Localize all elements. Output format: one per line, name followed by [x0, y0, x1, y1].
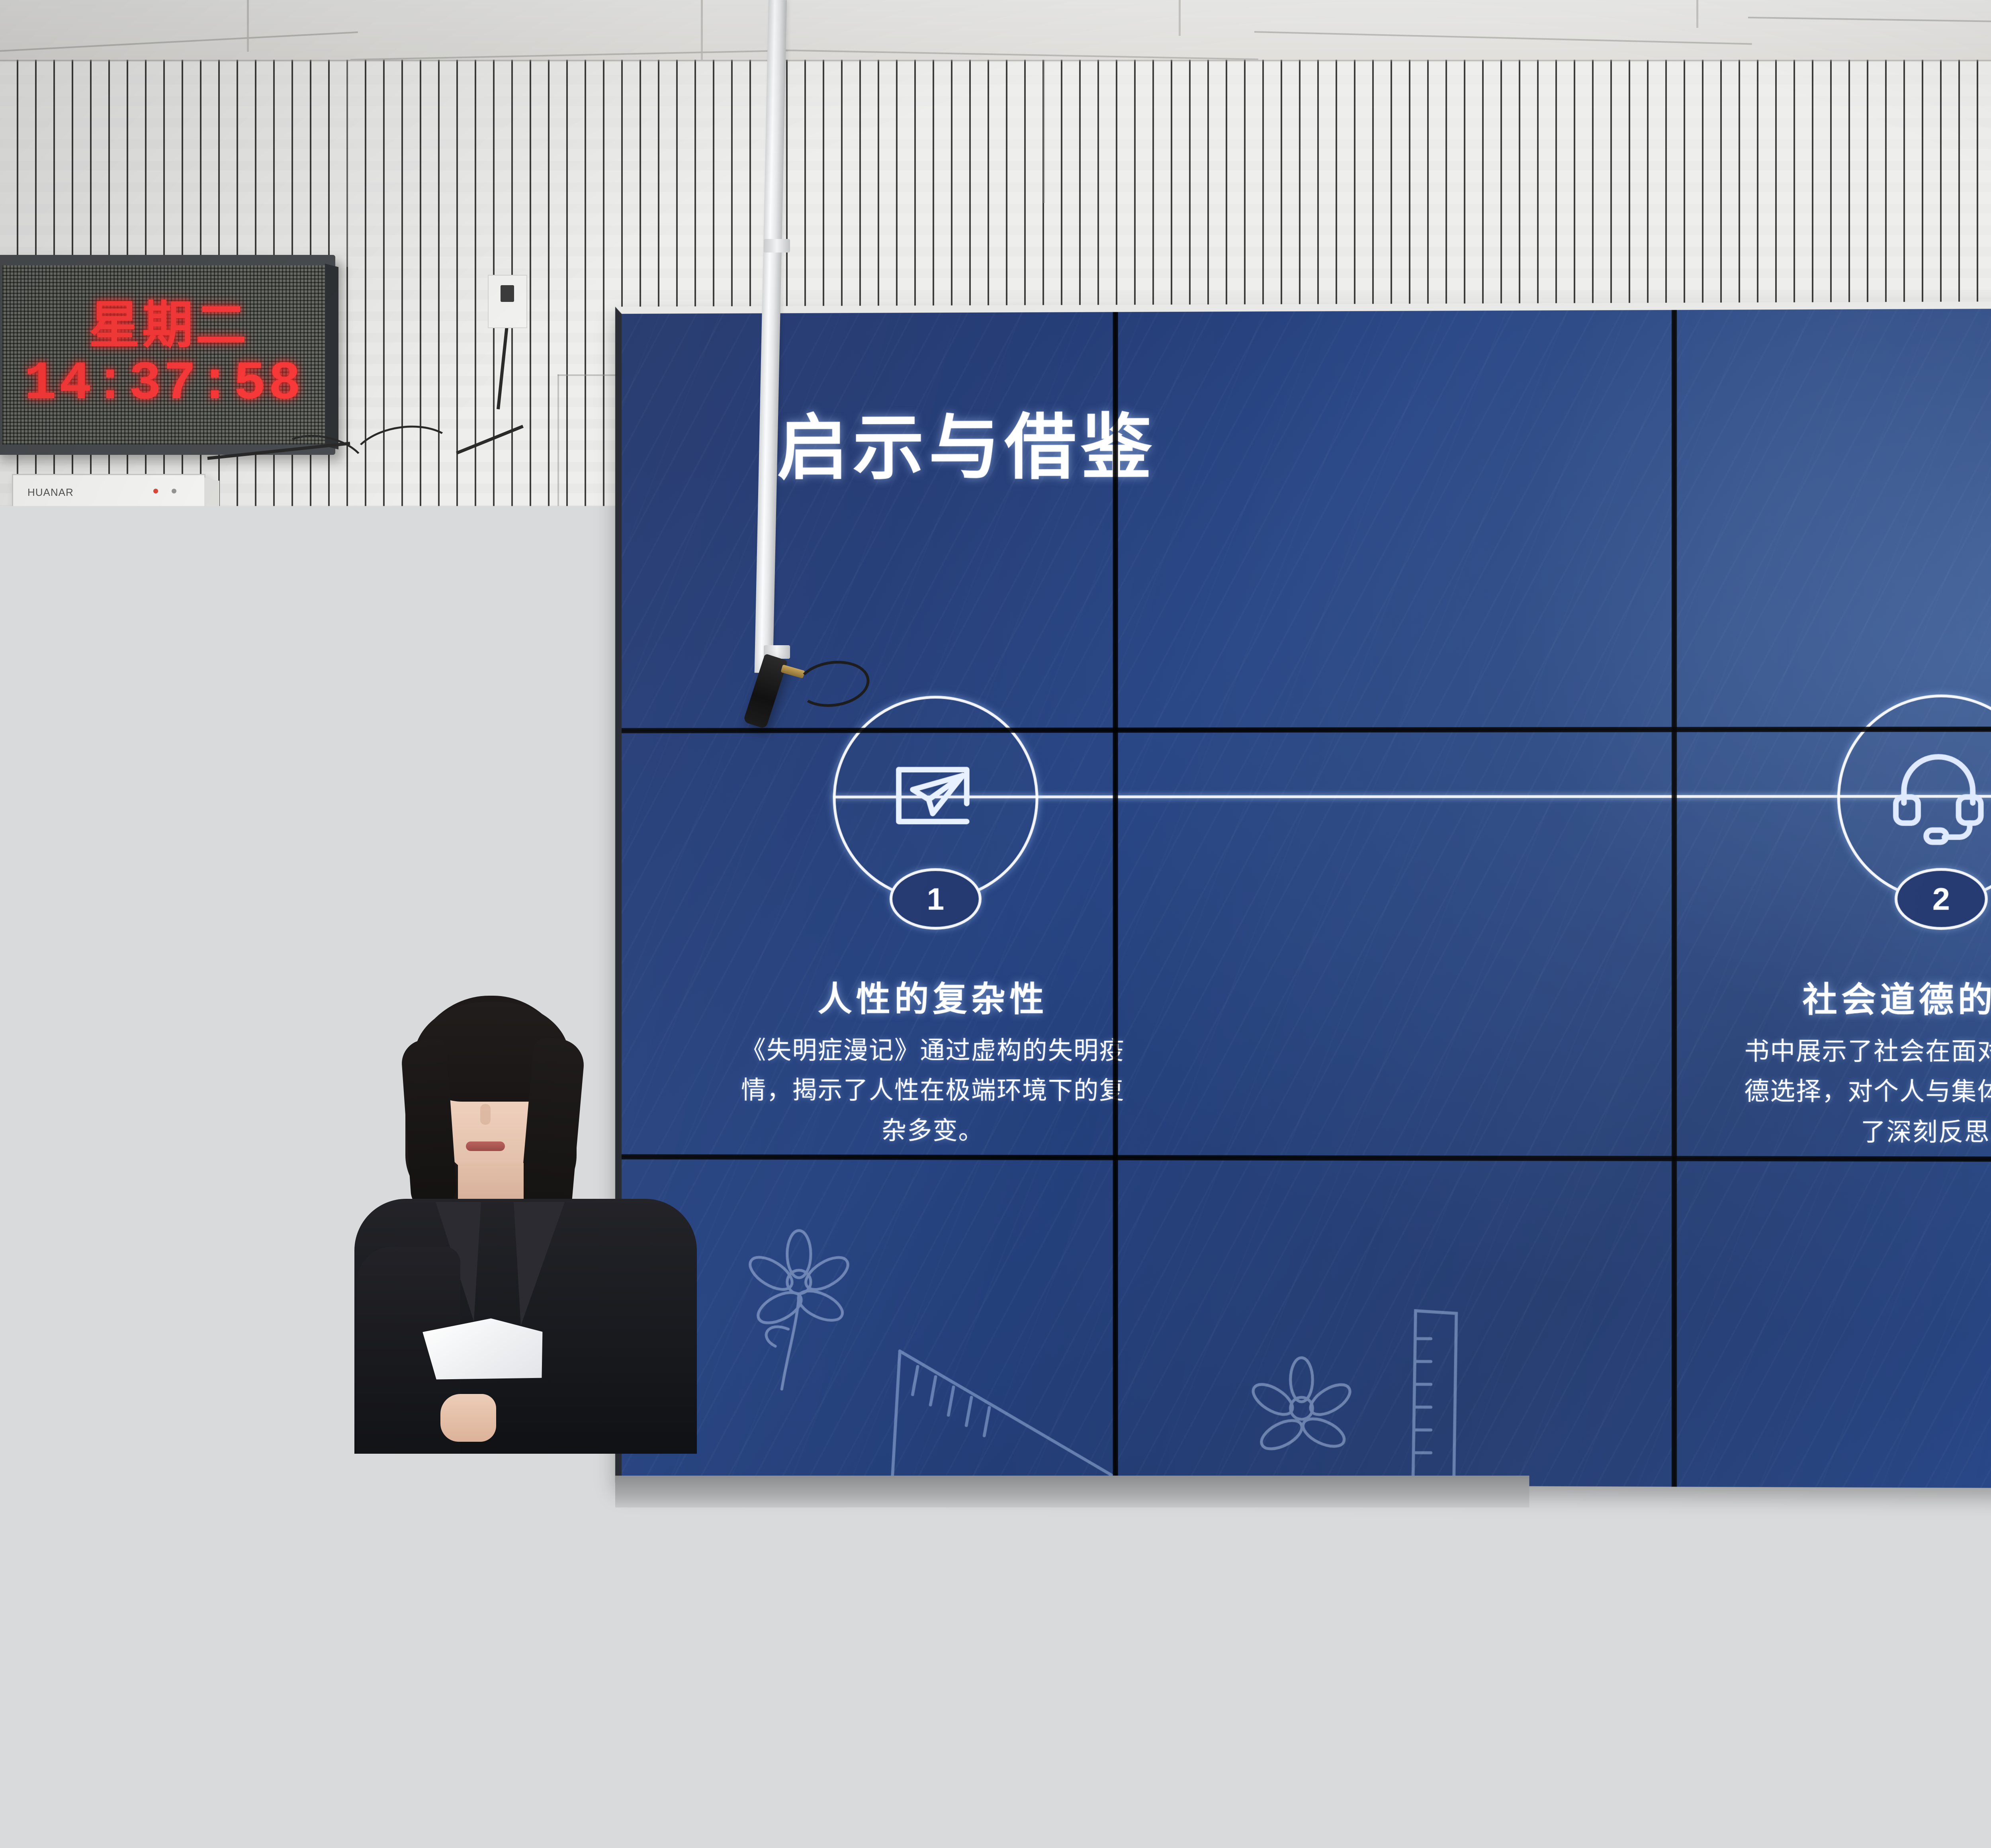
- flower-doodle: [733, 1226, 865, 1398]
- lectern-podium: [16, 1400, 761, 1848]
- node-badge-number: 2: [1895, 868, 1988, 930]
- led-screen: 星期二 14:37:58: [2, 265, 325, 444]
- presentation-slide: 启示与借鉴 1 人性的复杂性: [622, 306, 1991, 1491]
- node-badge-number: 1: [890, 868, 982, 930]
- camera-mount: [394, 605, 442, 651]
- photo-scene: 星期二 14:37:58 HUANAR: [0, 0, 1991, 1848]
- flower-doodle: [1233, 1351, 1366, 1488]
- led-time: 14:37:58: [2, 354, 325, 414]
- floor-strip: [615, 1476, 1991, 1507]
- speaker-brand-label: HUANAR: [27, 486, 74, 499]
- switch-toggle[interactable]: [501, 285, 514, 302]
- ruler-doodle: [1398, 1300, 1474, 1491]
- node-heading: 社会道德的考验: [1772, 971, 1991, 1022]
- status-led-icon: [172, 489, 176, 493]
- slide-title: 启示与借鉴: [777, 390, 1157, 493]
- panel-bezel: [1113, 312, 1118, 1484]
- microphone-collar: [764, 239, 790, 253]
- panel-bezel: [1672, 310, 1677, 1487]
- video-wall-display[interactable]: 启示与借鉴 1 人性的复杂性: [615, 299, 1991, 1491]
- node-body-text: 《失明症漫记》通过虚构的失明疫情，揭示了人性在极端环境下的复杂多变。: [737, 1031, 1129, 1151]
- presenter: [346, 992, 705, 1450]
- camera-lens: [403, 566, 444, 604]
- led-clock-sign: 星期二 14:37:58: [0, 255, 335, 455]
- paper-plane-send-icon: [883, 746, 983, 846]
- speaker-grill: [22, 508, 192, 598]
- node-body-text: 书中展示了社会在面对灾难时的道德选择，对个人与集体的关系提出了深刻反思。: [1740, 1032, 1991, 1153]
- headset-support-icon: [1888, 745, 1989, 845]
- led-weekday: 星期二: [2, 296, 325, 354]
- wall-speaker: HUANAR: [12, 474, 205, 608]
- ruler-doodle: [877, 1322, 1133, 1491]
- podium-lock-icon[interactable]: [359, 1657, 376, 1674]
- surveillance-camera-icon: [386, 528, 455, 605]
- power-outlet[interactable]: [1330, 1725, 1370, 1774]
- node-heading: 人性的复杂性: [769, 971, 1097, 1021]
- wall-switch-plate[interactable]: [488, 275, 527, 328]
- power-led-icon: [153, 489, 158, 493]
